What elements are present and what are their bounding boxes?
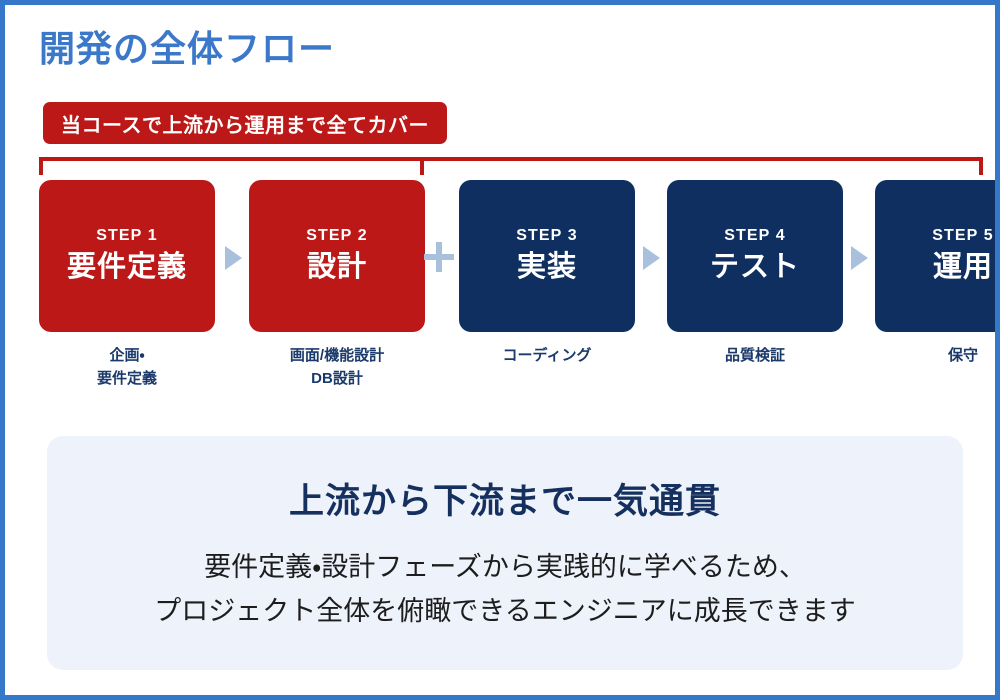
step-group-3[interactable]: STEP 3 実装 コーディング [459, 180, 635, 368]
step-caption-1-line-2: 要件定義 [39, 368, 215, 391]
step-caption-5-line-1: 保守 [875, 345, 1000, 368]
step-caption-5: 保守 [875, 345, 1000, 368]
summary-body-line-1: 要件定義・設計フェーズから実践的に学べるため、 [154, 546, 855, 590]
step-box-5[interactable]: STEP 5 運用 [875, 180, 1000, 332]
coverage-bracket-mid-tick [420, 157, 424, 175]
summary-body-line-2: プロジェクト全体を俯瞰できるエンジニアに成長できます [154, 590, 855, 634]
step-caption-3-line-1: コーディング [459, 345, 635, 368]
steps-row: STEP 1 要件定義 企画・ 要件定義 STEP 2 設計 画面/機能設計 D… [39, 180, 983, 405]
step-group-1[interactable]: STEP 1 要件定義 企画・ 要件定義 [39, 180, 215, 390]
step-number-4: STEP 4 [724, 227, 785, 245]
step-caption-2-line-2: DB設計 [249, 368, 425, 391]
step-group-4[interactable]: STEP 4 テスト 品質検証 [667, 180, 843, 368]
step-number-3: STEP 3 [516, 227, 577, 245]
step-caption-2-line-1: 画面/機能設計 [249, 345, 425, 368]
step-caption-4: 品質検証 [667, 345, 843, 368]
plus-icon [424, 242, 454, 272]
step-box-3[interactable]: STEP 3 実装 [459, 180, 635, 332]
step-group-2[interactable]: STEP 2 設計 画面/機能設計 DB設計 [249, 180, 425, 390]
step-number-1: STEP 1 [96, 227, 157, 245]
summary-panel: 上流から下流まで一気通貫 要件定義・設計フェーズから実践的に学べるため、 プロジ… [47, 436, 963, 670]
summary-body: 要件定義・設計フェーズから実践的に学べるため、 プロジェクト全体を俯瞰できるエン… [154, 546, 855, 633]
step-box-1[interactable]: STEP 1 要件定義 [39, 180, 215, 332]
step-caption-3: コーディング [459, 345, 635, 368]
arrow-right-icon-2 [643, 246, 660, 270]
step-caption-1-line-1: 企画・ [39, 345, 215, 368]
step-group-5[interactable]: STEP 5 運用 保守 [875, 180, 1000, 368]
step-box-4[interactable]: STEP 4 テスト [667, 180, 843, 332]
step-caption-4-line-1: 品質検証 [667, 345, 843, 368]
step-caption-1: 企画・ 要件定義 [39, 345, 215, 390]
step-title-4: テスト [710, 251, 800, 284]
coverage-bracket [39, 157, 983, 175]
summary-heading: 上流から下流まで一気通貫 [289, 473, 721, 524]
page-title: 開発の全体フロー [39, 27, 335, 70]
coverage-badge: 当コースで上流から運用まで全てカバー [43, 102, 447, 144]
step-title-2: 設計 [307, 251, 367, 284]
step-caption-2: 画面/機能設計 DB設計 [249, 345, 425, 390]
step-number-2: STEP 2 [306, 227, 367, 245]
development-flow-infographic: 開発の全体フロー 当コースで上流から運用まで全てカバー STEP 1 要件定義 … [0, 0, 1000, 700]
step-number-5: STEP 5 [932, 227, 993, 245]
step-title-5: 運用 [933, 251, 993, 284]
step-title-3: 実装 [517, 251, 577, 284]
arrow-right-icon-3 [851, 246, 868, 270]
step-box-2[interactable]: STEP 2 設計 [249, 180, 425, 332]
arrow-right-icon-1 [225, 246, 242, 270]
step-title-1: 要件定義 [67, 251, 187, 284]
